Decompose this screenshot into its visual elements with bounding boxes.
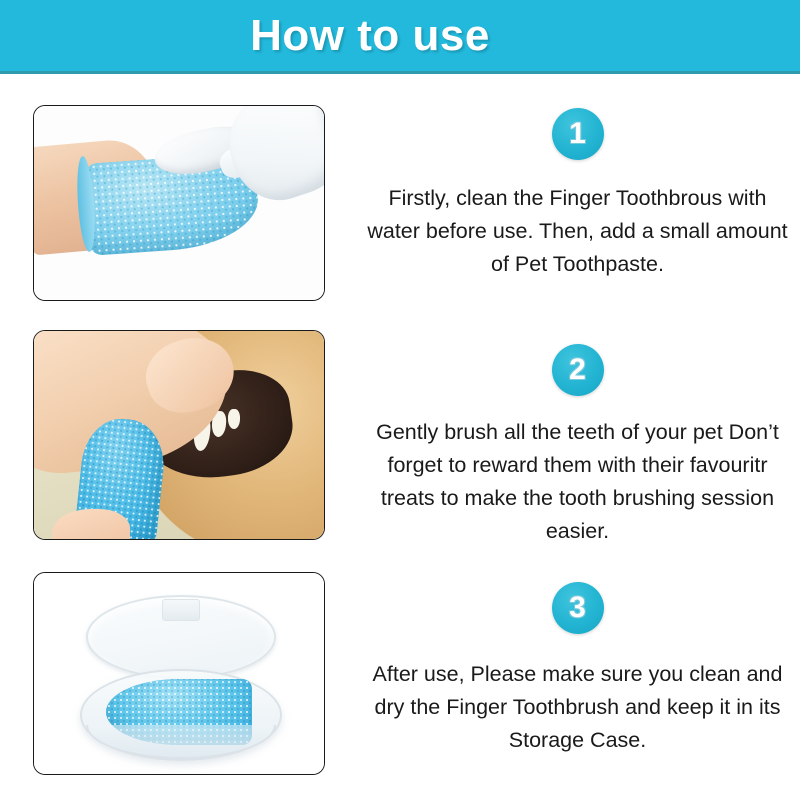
photo-frame-1 [33, 105, 325, 301]
photo-brushing-dog-teeth [34, 331, 324, 539]
step-content-2: 2 Gently brush all the teeth of your pet… [355, 344, 800, 548]
header-banner: How to use [0, 0, 800, 74]
page-title: How to use [250, 14, 550, 58]
steps-container: 1 Firstly, clean the Finger Toothbrous w… [0, 74, 800, 800]
photo-frame-3 [33, 572, 325, 775]
step-3-badge: 3 [552, 582, 604, 634]
step-row-2: 2 Gently brush all the teeth of your pet… [0, 322, 800, 562]
step-1-text: Firstly, clean the Finger Toothbrous wit… [355, 182, 800, 281]
step-2-number: 2 [569, 355, 586, 385]
photo-storage-case [34, 573, 324, 774]
photo-frame-2 [33, 330, 325, 540]
step-2-badge: 2 [552, 344, 604, 396]
storage-case-front-rim-shape [86, 725, 276, 759]
step-content-3: 3 After use, Please make sure you clean … [355, 582, 800, 757]
step-content-1: 1 Firstly, clean the Finger Toothbrous w… [355, 108, 800, 281]
step-row-3: 3 After use, Please make sure you clean … [0, 562, 800, 792]
infographic-page: How to use 1 Firs [0, 0, 800, 800]
step-2-text: Gently brush all the teeth of your pet D… [355, 416, 800, 548]
step-3-text: After use, Please make sure you clean an… [355, 658, 800, 757]
photo-finger-brush-with-toothpaste [34, 106, 324, 300]
dog-tooth-shape [228, 409, 240, 429]
step-row-1: 1 Firstly, clean the Finger Toothbrous w… [0, 94, 800, 329]
step-1-number: 1 [569, 119, 586, 149]
storage-case-hinge-shape [162, 599, 200, 621]
step-3-number: 3 [569, 593, 586, 623]
step-1-badge: 1 [552, 108, 604, 160]
